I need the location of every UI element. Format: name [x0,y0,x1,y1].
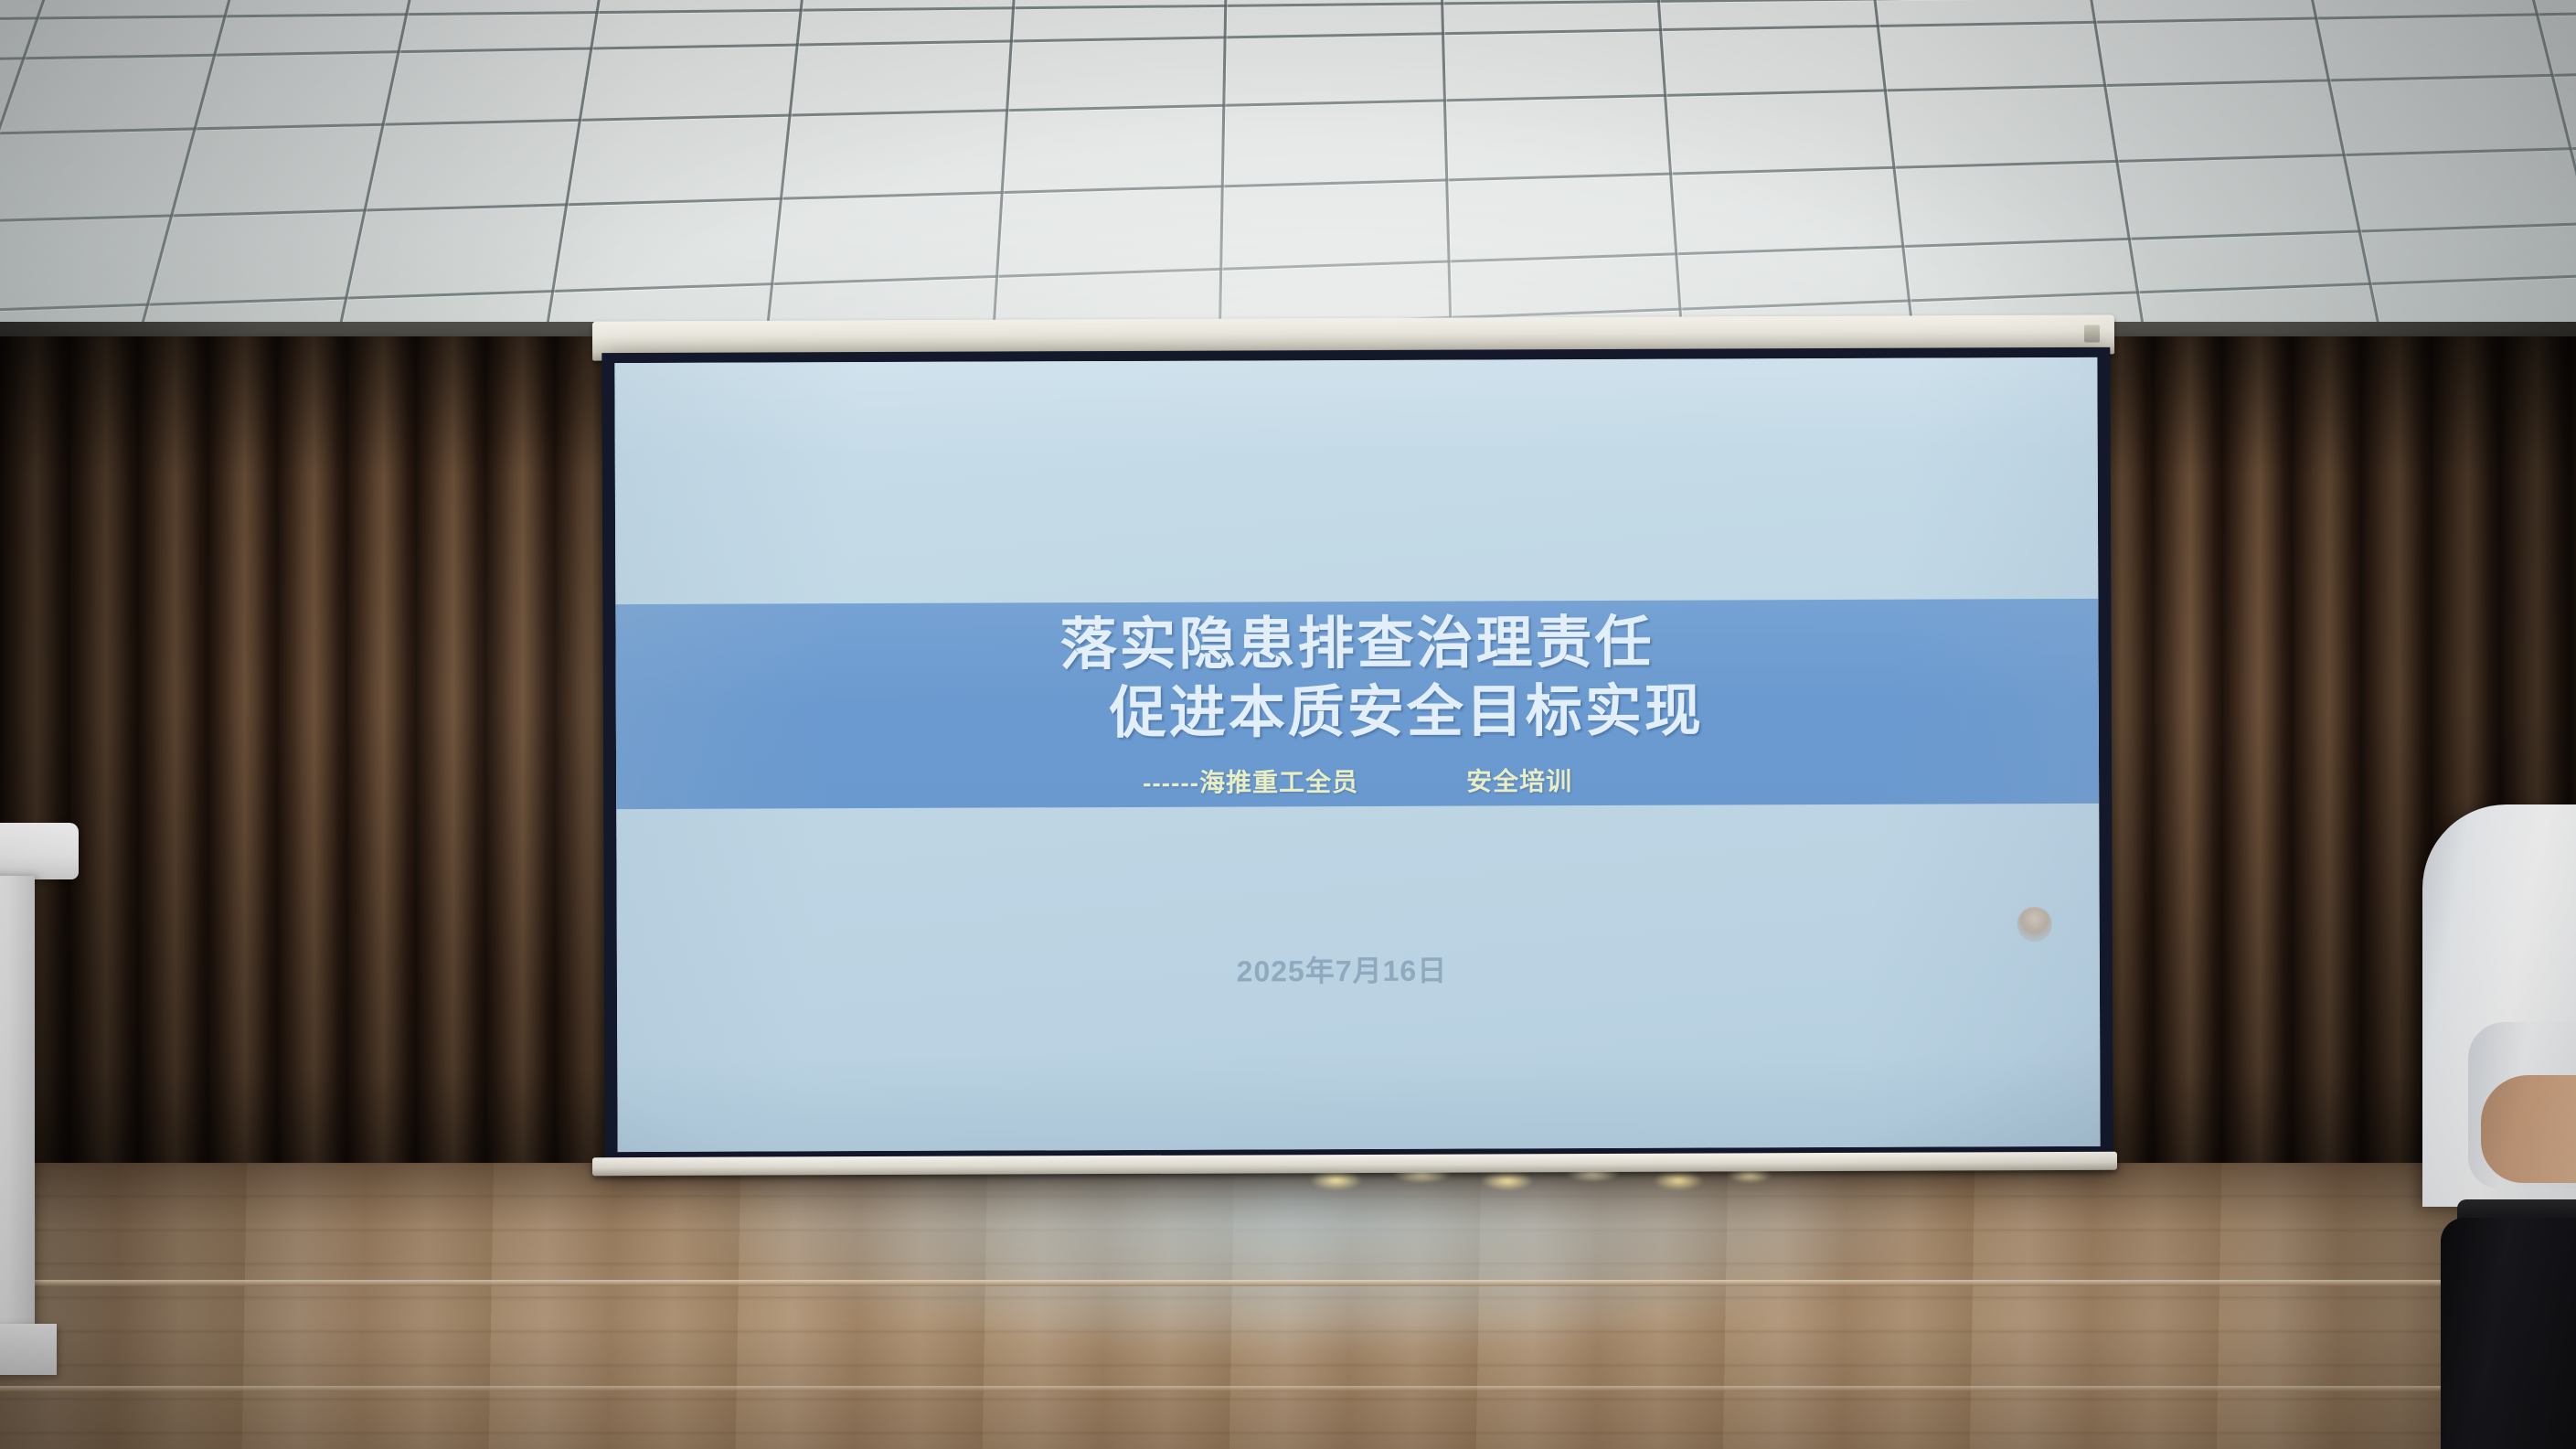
lectern-top [0,823,79,879]
conference-room-scene: 落实隐患排查治理责任 促进本质安全目标实现 ------海推重工全员 安全培训 … [0,0,2576,1449]
projected-slide: 落实隐患排查治理责任 促进本质安全目标实现 ------海推重工全员 安全培训 … [614,357,2100,1152]
slide-title-line-1: 落实隐患排查治理责任 [1059,611,1654,676]
slide-canvas: 落实隐患排查治理责任 促进本质安全目标实现 ------海推重工全员 安全培训 … [614,357,2100,1152]
housing-end-cap [2084,325,2100,342]
projector-screen: 落实隐患排查治理责任 促进本质安全目标实现 ------海推重工全员 安全培训 … [601,347,2113,1167]
slide-subtitle-row: ------海推重工全员 安全培训 [616,760,2099,802]
slide-title: 落实隐患排查治理责任 促进本质安全目标实现 [615,607,2099,751]
floor [0,1163,2576,1449]
lectern [0,823,79,1449]
standing-person [2422,804,2576,1449]
slide-subtitle-left: ------海推重工全员 [1143,762,1358,800]
slide-date: 2025年7月16日 [617,945,2100,993]
floor-shading [0,1163,2576,1449]
person-arm [2481,1075,2576,1183]
slide-subtitle-right: 安全培训 [1466,762,1572,798]
ceiling [0,0,2576,340]
presenter-avatar-icon [2017,907,2052,942]
lectern-base [0,1324,57,1375]
lectern-column [0,876,35,1333]
person-trousers [2441,1218,2576,1449]
slide-title-line-2: 促进本质安全目标实现 [616,676,2099,751]
